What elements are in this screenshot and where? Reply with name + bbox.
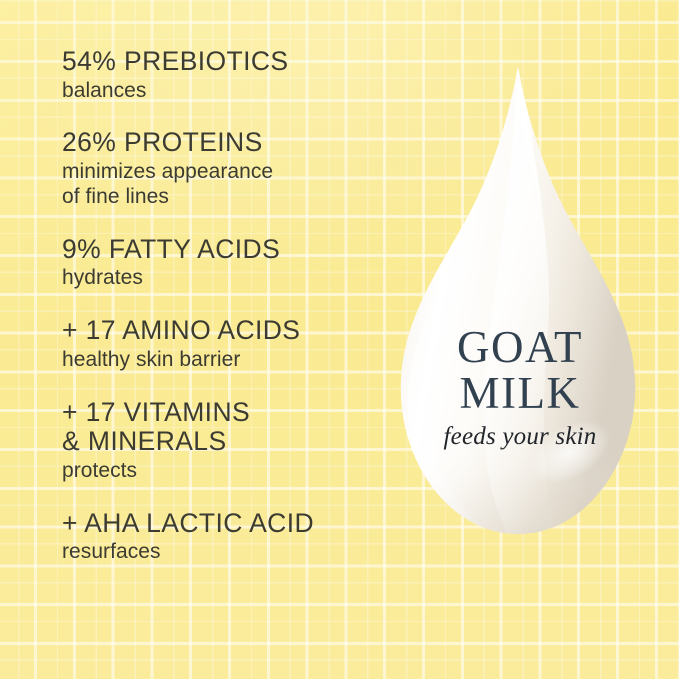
ingredient-heading: 9% FATTY ACIDS <box>62 235 382 265</box>
ingredient-description: hydrates <box>62 266 382 291</box>
ingredient-item-prebiotics: 54% PREBIOTICS balances <box>62 47 382 103</box>
ingredient-item-vitamins-minerals: + 17 VITAMINS & MINERALS protects <box>62 398 382 484</box>
ingredient-item-fatty-acids: 9% FATTY ACIDS hydrates <box>62 235 382 291</box>
ingredient-item-aha-lactic-acid: + AHA LACTIC ACID resurfaces <box>62 509 382 565</box>
ingredient-list: 54% PREBIOTICS balances 26% PROTEINS min… <box>62 47 382 565</box>
ingredient-heading: + AHA LACTIC ACID <box>62 509 382 539</box>
ingredient-description: balances <box>62 79 382 104</box>
droplet-icon <box>392 60 648 550</box>
ingredient-description: minimizes appearance of fine lines <box>62 160 382 210</box>
ingredient-description: protects <box>62 459 382 484</box>
ingredient-heading: + 17 AMINO ACIDS <box>62 316 382 346</box>
ingredient-item-amino-acids: + 17 AMINO ACIDS healthy skin barrier <box>62 316 382 372</box>
ingredient-item-proteins: 26% PROTEINS minimizes appearance of fin… <box>62 128 382 209</box>
ingredient-heading: + 17 VITAMINS & MINERALS <box>62 398 382 457</box>
infographic-canvas: 54% PREBIOTICS balances 26% PROTEINS min… <box>0 0 679 679</box>
ingredient-heading: 26% PROTEINS <box>62 128 382 158</box>
milk-droplet-graphic <box>392 60 648 550</box>
ingredient-heading: 54% PREBIOTICS <box>62 47 382 77</box>
ingredient-description: healthy skin barrier <box>62 348 382 373</box>
ingredient-description: resurfaces <box>62 540 382 565</box>
